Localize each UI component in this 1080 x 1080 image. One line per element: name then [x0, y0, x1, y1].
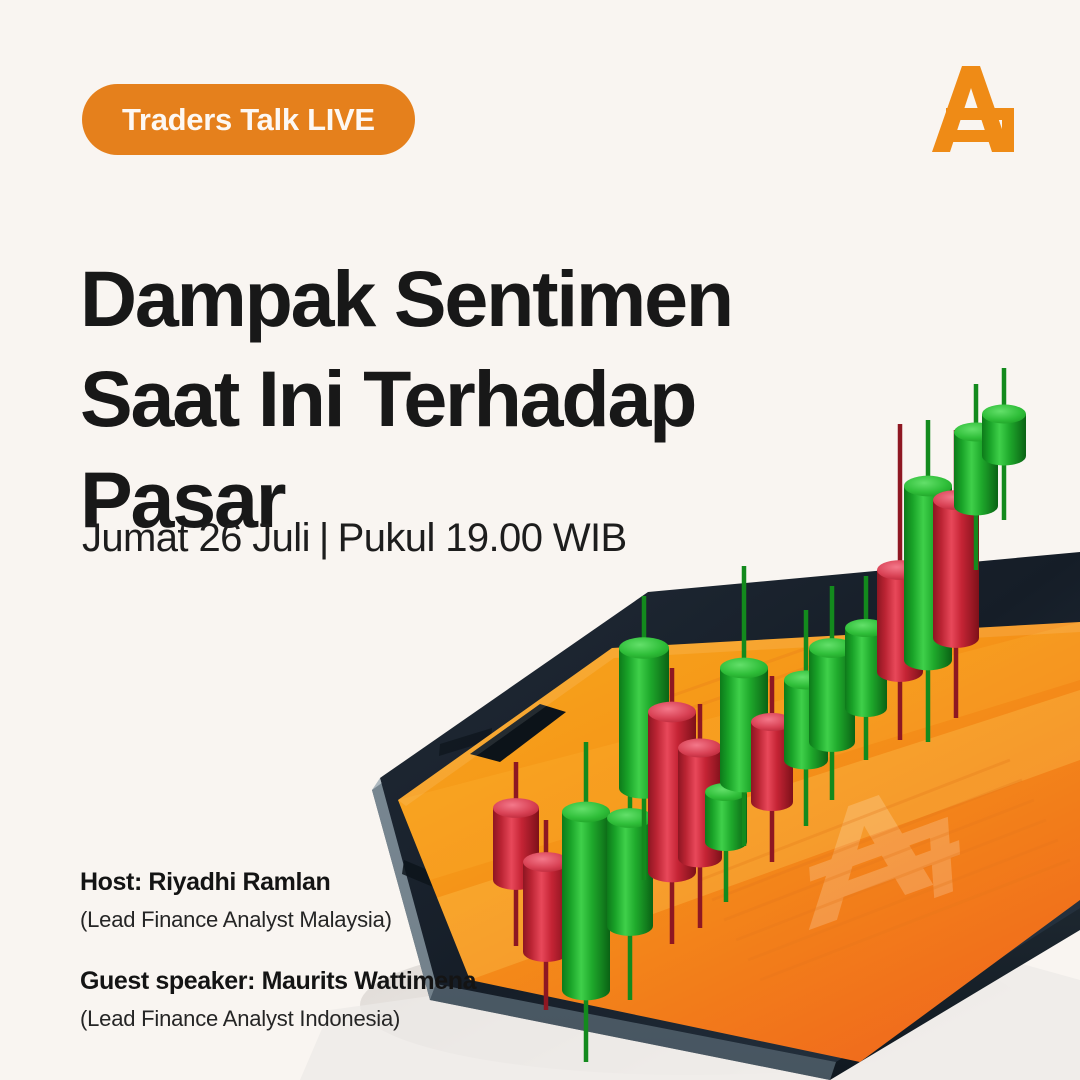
schedule-date: Jumat 26 Juli [82, 516, 310, 560]
host-role: (Lead Finance Analyst Malaysia) [80, 904, 640, 936]
headline-line-2: Saat Ini Terhadap [80, 349, 840, 449]
schedule-line: Jumat 26 Juli|Pukul 19.00 WIB [82, 516, 627, 561]
host-name: Host: Riyadhi Ramlan [80, 866, 640, 899]
guest-name: Guest speaker: Maurits Wattimena [80, 965, 640, 998]
brand-logo [924, 60, 1028, 160]
credit-guest: Guest speaker: Maurits Wattimena (Lead F… [80, 965, 640, 1034]
headline-line-1: Dampak Sentimen [80, 249, 840, 349]
poster-canvas: Traders Talk LIVE Dampak Sentimen Saat I… [0, 0, 1080, 1080]
poster-content: Traders Talk LIVE Dampak Sentimen Saat I… [0, 0, 1080, 1080]
schedule-time: Pukul 19.00 WIB [338, 516, 627, 560]
credits-block: Host: Riyadhi Ramlan (Lead Finance Analy… [80, 866, 640, 1035]
austral-a-logo-icon [924, 60, 1028, 160]
guest-role: (Lead Finance Analyst Indonesia) [80, 1003, 640, 1035]
page-title: Dampak Sentimen Saat Ini Terhadap Pasar [80, 249, 840, 550]
live-badge: Traders Talk LIVE [82, 84, 415, 155]
schedule-separator: | [319, 516, 329, 561]
credit-host: Host: Riyadhi Ramlan (Lead Finance Analy… [80, 866, 640, 935]
